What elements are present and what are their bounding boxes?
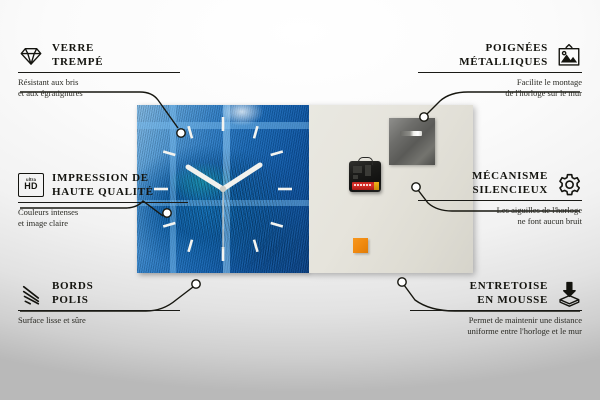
callout-divider — [418, 200, 582, 201]
aa-battery — [352, 182, 378, 190]
callout-mecanisme-silencieux: MÉCANISME SILENCIEUX Les aiguilles de l'… — [418, 170, 582, 227]
callout-divider — [18, 202, 188, 203]
gear-icon — [556, 171, 582, 197]
mechanism-detail-2 — [365, 165, 371, 176]
callout-bords-polis: BORDS POLIS Surface lisse et sûre — [18, 280, 180, 326]
polished-edges-icon — [18, 281, 44, 307]
foam-spacer-pad — [353, 238, 368, 253]
ultra-hd-icon: ultra HD — [18, 173, 44, 199]
battery-label — [354, 184, 372, 186]
picture-frame-hanger-icon — [556, 43, 582, 69]
callout-verre-trempe: VERRE TREMPÉ Résistant aux bris et aux é… — [18, 42, 180, 99]
callout-entretoise-en-mousse: ENTRETOISE EN MOUSSE Permet de maintenir… — [410, 280, 582, 337]
callout-title: VERRE TREMPÉ — [52, 42, 103, 69]
callout-subtitle: Facilite le montage de l'horloge sur le … — [418, 77, 582, 99]
minute-hand — [223, 165, 260, 189]
battery-positive-terminal — [374, 182, 379, 190]
callout-header: MÉCANISME SILENCIEUX — [418, 170, 582, 197]
hour-hand — [188, 167, 223, 189]
leader-dot-bords — [192, 280, 200, 288]
metal-hanger-plate — [389, 118, 435, 165]
mechanism-detail-1 — [353, 166, 362, 173]
callout-subtitle: Surface lisse et sûre — [18, 315, 180, 326]
hanger-slot — [400, 131, 422, 136]
callout-header: POIGNÉES MÉTALLIQUES — [418, 42, 582, 69]
mechanism-hanging-hook — [358, 157, 373, 165]
callout-impression-hd: ultra HD IMPRESSION DE HAUTE QUALITÉ Cou… — [18, 172, 188, 229]
callout-subtitle: Couleurs intenses et image claire — [18, 207, 188, 229]
callout-divider — [18, 72, 180, 73]
callout-subtitle: Résistant aux bris et aux égratignures — [18, 77, 180, 99]
hd-icon-hd-text: HD — [24, 182, 38, 192]
callout-divider — [410, 310, 582, 311]
mechanism-detail-3 — [353, 175, 358, 179]
callout-divider — [18, 310, 180, 311]
callout-header: ultra HD IMPRESSION DE HAUTE QUALITÉ — [18, 172, 188, 199]
leader-dot-entretoise — [398, 278, 406, 286]
clock-center-cap — [220, 186, 226, 192]
callout-title: MÉCANISME SILENCIEUX — [472, 170, 548, 197]
callout-header: BORDS POLIS — [18, 280, 180, 307]
diamond-icon — [18, 43, 44, 69]
callout-subtitle: Les aiguilles de l'horloge ne font aucun… — [418, 205, 582, 227]
callout-title: IMPRESSION DE HAUTE QUALITÉ — [52, 172, 154, 199]
callout-header: ENTRETOISE EN MOUSSE — [410, 280, 582, 307]
callout-divider — [418, 72, 582, 73]
callout-title: BORDS POLIS — [52, 280, 93, 307]
callout-subtitle: Permet de maintenir une distance uniform… — [410, 315, 582, 337]
callout-header: VERRE TREMPÉ — [18, 42, 180, 69]
callout-poignees-metalliques: POIGNÉES MÉTALLIQUES Facilite le montage… — [418, 42, 582, 99]
foam-spacer-arrow-icon — [556, 281, 582, 307]
quartz-movement-mechanism — [349, 161, 381, 192]
callout-title: POIGNÉES MÉTALLIQUES — [459, 42, 548, 69]
callout-title: ENTRETOISE EN MOUSSE — [470, 280, 548, 307]
infographic-stage: VERRE TREMPÉ Résistant aux bris et aux é… — [0, 0, 600, 400]
